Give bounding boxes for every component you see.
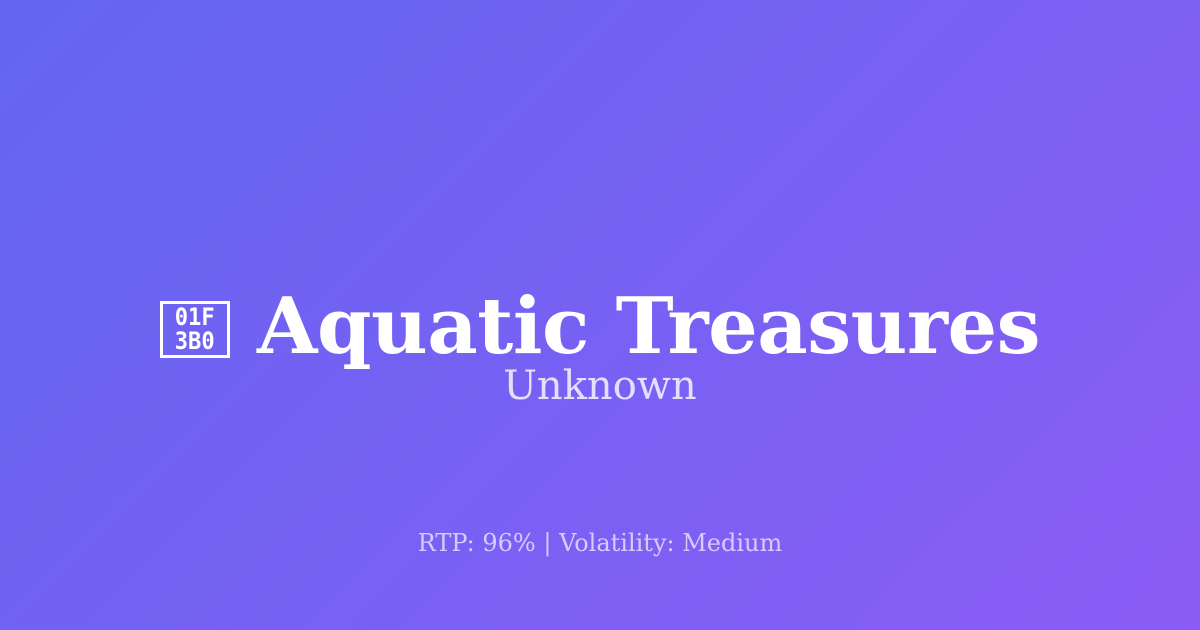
slot-machine-emoji-codepoint-bottom: 3B0 <box>175 329 215 353</box>
game-provider-subtitle: Unknown <box>0 362 1200 410</box>
game-preview-card: 01F 3B0 Aquatic Treasures Unknown RTP: 9… <box>0 0 1200 630</box>
slot-machine-emoji-icon: 01F 3B0 <box>160 301 230 358</box>
game-stats-footer: RTP: 96% | Volatility: Medium <box>0 528 1200 558</box>
slot-machine-emoji-codepoint-top: 01F <box>175 305 215 329</box>
game-title: Aquatic Treasures <box>257 284 1040 370</box>
